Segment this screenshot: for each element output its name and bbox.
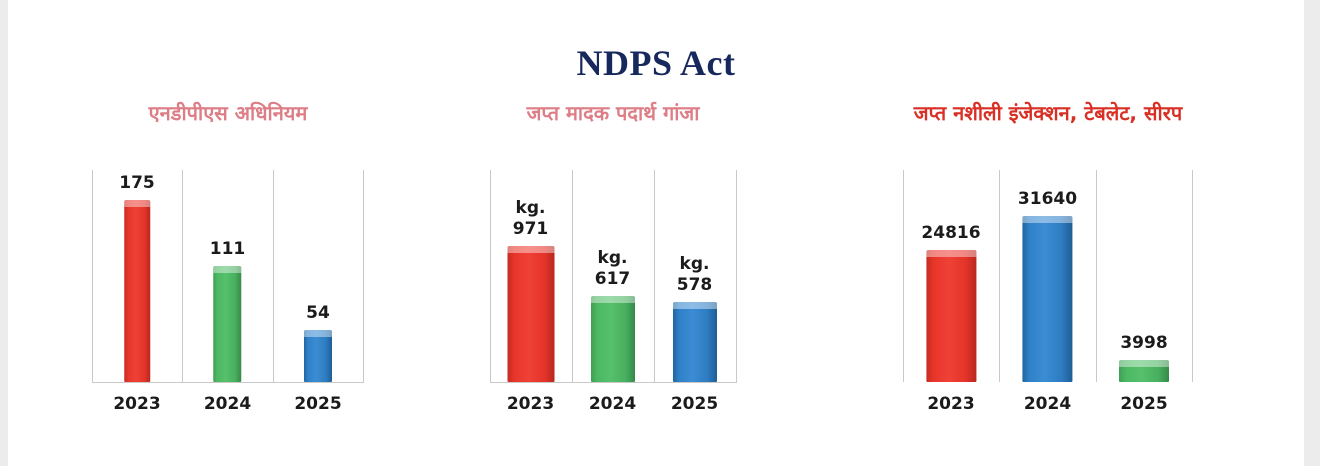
chart-title-0: एनडीपीएस अधिनियम — [18, 100, 438, 126]
bar-2023[interactable] — [926, 250, 976, 382]
bar-2024[interactable] — [1023, 216, 1073, 382]
bar-2023[interactable] — [507, 246, 554, 382]
chart-plot-area-0: 175 2023 111 2024 54 — [18, 170, 438, 400]
bar-wrap: 3998 — [1119, 333, 1169, 382]
bar-wrap: 31640 — [1018, 189, 1077, 382]
chart-panel-seized-ganja: जप्त मादक पदार्थ गांजा kg. 971 2023 — [423, 100, 803, 460]
tick-label-2024: 2024 — [204, 394, 251, 414]
bar-group-2024: kg. 617 2024 — [572, 170, 654, 400]
bar-group-2025: 3998 2025 — [1096, 170, 1192, 400]
gridline — [736, 170, 737, 382]
bar-group-2024: 31640 2024 — [999, 170, 1096, 400]
bar-value-label: kg. 578 — [677, 254, 713, 296]
bar-2025[interactable] — [1119, 360, 1169, 382]
bar-value-label: 54 — [306, 303, 330, 324]
tick-label-2025: 2025 — [1120, 394, 1167, 414]
bar-value-label: kg. 617 — [595, 248, 631, 290]
tick-label-2025: 2025 — [671, 394, 718, 414]
bar-wrap: 111 — [210, 239, 246, 382]
bar-group-2025: kg. 578 2025 — [654, 170, 736, 400]
bar-group-2023: 175 2023 — [92, 170, 182, 400]
bar-value-label: 111 — [210, 239, 246, 260]
chart-inner-2: 24816 2023 31640 2024 3998 — [903, 170, 1193, 400]
tick-label-2023: 2023 — [927, 394, 974, 414]
bar-group-2023: 24816 2023 — [903, 170, 999, 400]
bar-value-label: kg. 971 — [513, 198, 549, 240]
chart-plot-area-1: kg. 971 2023 kg. 617 2024 kg. 578 — [423, 170, 803, 400]
bar-wrap: 175 — [119, 173, 155, 382]
bar-value-label: 31640 — [1018, 189, 1077, 210]
chart-title-2: जप्त नशीली इंजेक्शन, टेबलेट, सीरप — [803, 100, 1293, 126]
tick-label-2023: 2023 — [113, 394, 160, 414]
bar-value-label: 175 — [119, 173, 155, 194]
bar-group-2024: 111 2024 — [182, 170, 273, 400]
bar-2024[interactable] — [591, 296, 635, 382]
gridline — [1192, 170, 1193, 382]
page-title: NDPS Act — [8, 42, 1304, 84]
bar-group-2023: kg. 971 2023 — [490, 170, 572, 400]
bar-wrap: kg. 617 — [591, 248, 635, 382]
chart-title-1: जप्त मादक पदार्थ गांजा — [423, 100, 803, 126]
bar-wrap: kg. 971 — [507, 198, 554, 382]
bar-value-label: 24816 — [921, 223, 980, 244]
bar-wrap: kg. 578 — [673, 254, 717, 382]
tick-label-2025: 2025 — [294, 394, 341, 414]
chart-panel-seized-injections: जप्त नशीली इंजेक्शन, टेबलेट, सीरप 24816 … — [803, 100, 1293, 460]
chart-plot-area-2: 24816 2023 31640 2024 3998 — [803, 170, 1293, 400]
slide-canvas: NDPS Act एनडीपीएस अधिनियम 175 2023 — [8, 0, 1304, 466]
bar-group-2025: 54 2025 — [273, 170, 363, 400]
bar-wrap: 24816 — [921, 223, 980, 382]
bar-2024[interactable] — [214, 266, 242, 382]
bar-value-label: 3998 — [1120, 333, 1167, 354]
chart-inner-1: kg. 971 2023 kg. 617 2024 kg. 578 — [490, 170, 737, 400]
tick-label-2024: 2024 — [1024, 394, 1071, 414]
bar-2025[interactable] — [304, 330, 332, 382]
tick-label-2023: 2023 — [507, 394, 554, 414]
bar-2023[interactable] — [124, 200, 150, 382]
bar-wrap: 54 — [304, 303, 332, 382]
tick-label-2024: 2024 — [589, 394, 636, 414]
chart-panel-ndps-cases: एनडीपीएस अधिनियम 175 2023 111 — [18, 100, 438, 460]
chart-inner-0: 175 2023 111 2024 54 — [92, 170, 364, 400]
gridline — [363, 170, 364, 382]
bar-2025[interactable] — [673, 302, 717, 382]
